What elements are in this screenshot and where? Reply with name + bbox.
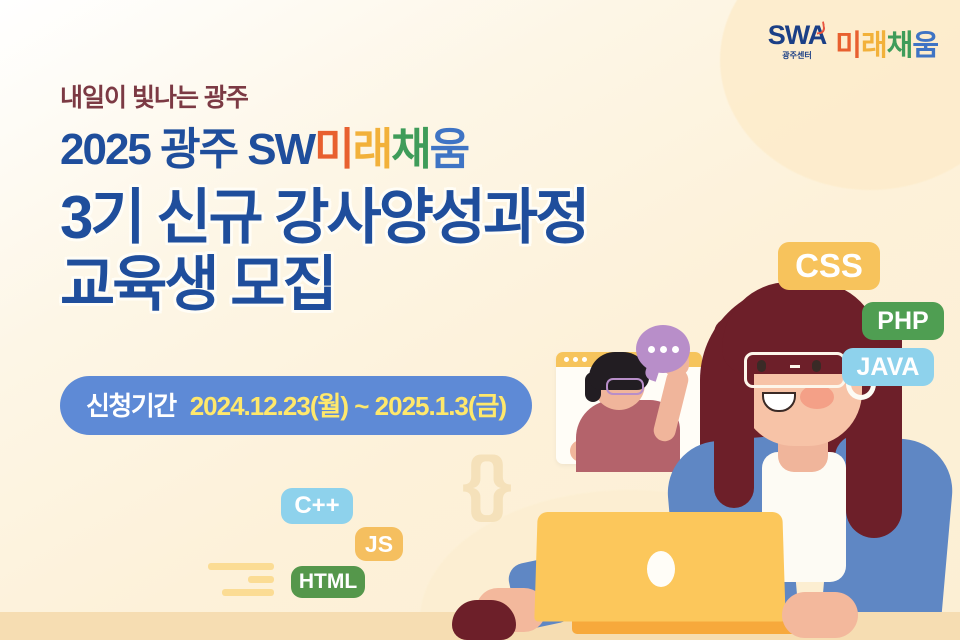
apply-period-badge: 신청기간 2024.12.23(월) ~ 2025.1.3(금) [60, 376, 532, 435]
tag-php: PHP [862, 302, 944, 340]
computer-mouse-icon [452, 600, 516, 640]
logo-char-3: 움 [912, 32, 938, 61]
tag-js: JS [355, 527, 403, 561]
brand-line-prefix: 2025 광주 SW [60, 128, 314, 172]
brand-line-char-3: 움 [430, 128, 468, 172]
woman-glasses [744, 352, 846, 388]
brand-line-char-2: 채 [391, 128, 429, 172]
curly-braces-icon: {} [462, 447, 506, 519]
apply-period-range: 2024.12.23(월) ~ 2025.1.3(금) [190, 386, 506, 423]
tag-html: HTML [291, 566, 365, 598]
page-title-line-2: 교육생 모집 [60, 251, 758, 318]
tag-java: JAVA [842, 348, 934, 386]
speech-bubble-icon [636, 325, 690, 373]
logo-char-0: 미 [835, 32, 861, 61]
tag-cpp: C++ [281, 488, 353, 524]
miraechaeum-logo: 미 래 채 움 [835, 32, 938, 61]
brand-line: 2025 광주 SW 미 래 채 움 [60, 128, 758, 172]
logo-lockup: SWA 광주센터 미 래 채 움 [768, 22, 938, 61]
promo-poster: SWA 광주센터 미 래 채 움 내일이 빛나는 광주 2025 광주 SW 미… [0, 0, 960, 640]
laptop-logo-icon [647, 551, 675, 587]
eyebrow-text: 내일이 빛나는 광주 [60, 78, 758, 114]
logo-char-1: 래 [861, 32, 887, 61]
headline-block: 내일이 빛나는 광주 2025 광주 SW 미 래 채 움 3기 신규 강사양성… [58, 78, 758, 318]
woman-cheek-blush [800, 385, 834, 409]
brand-line-char-1: 래 [353, 128, 391, 172]
person-left-glasses [606, 378, 644, 395]
woman-hand-right [782, 592, 858, 638]
tag-css: CSS [778, 242, 880, 290]
page-title-line-1: 3기 신규 강사양성과정 [60, 184, 758, 251]
code-lines-decoration [208, 563, 288, 602]
apply-period-label: 신청기간 [86, 386, 176, 423]
logo-char-2: 채 [887, 32, 913, 61]
swa-logo: SWA 광주센터 [768, 22, 827, 61]
brand-line-char-0: 미 [314, 128, 352, 172]
swa-wordmark: SWA [768, 22, 827, 49]
swa-sublabel: 광주센터 [782, 50, 811, 61]
